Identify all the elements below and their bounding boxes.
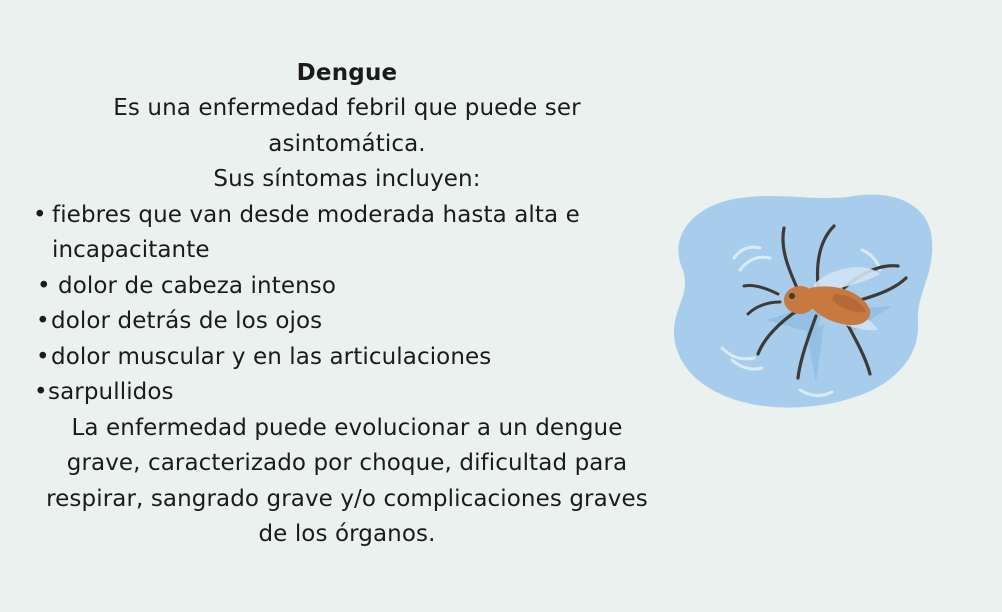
closing-line-3: respirar, sangrado grave y/o complicacio… [0,482,694,518]
mosquito-illustration [648,182,948,428]
bullet-marker-icon: • [33,198,47,234]
bullet-marker-icon: • [36,304,50,340]
list-item-label: dolor muscular y en las articulaciones [51,344,491,370]
list-item: •sarpullidos [0,375,694,411]
list-item-label: fiebres que van desde moderada hasta alt… [52,202,580,264]
page-title: Dengue [0,56,694,91]
bullet-marker-icon: • [36,340,50,376]
bullet-marker-icon: • [37,269,51,305]
slide: Dengue Es una enfermedad febril que pued… [0,0,1002,612]
list-item: •dolor muscular y en las articulaciones [0,340,694,376]
intro-line-1: Es una enfermedad febril que puede ser [0,91,694,127]
list-item-label: sarpullidos [48,379,174,405]
closing-line-1: La enfermedad puede evolucionar a un den… [0,411,694,447]
symptom-list: •fiebres que van desde moderada hasta al… [0,198,694,411]
list-item: •dolor de cabeza intenso [0,269,694,305]
intro-line-3: Sus síntomas incluyen: [0,162,694,198]
list-item: •fiebres que van desde moderada hasta al… [0,198,694,269]
list-item: •dolor detrás de los ojos [0,304,694,340]
list-item-label: dolor detrás de los ojos [51,308,322,334]
bullet-marker-icon: • [34,375,48,411]
closing-line-4: de los órganos. [0,517,694,553]
closing-line-2: grave, caracterizado por choque, dificul… [0,446,694,482]
intro-line-2: asintomática. [0,127,694,163]
slide-text-block: Dengue Es una enfermedad febril que pued… [0,56,694,553]
list-item-label: dolor de cabeza intenso [58,273,336,299]
